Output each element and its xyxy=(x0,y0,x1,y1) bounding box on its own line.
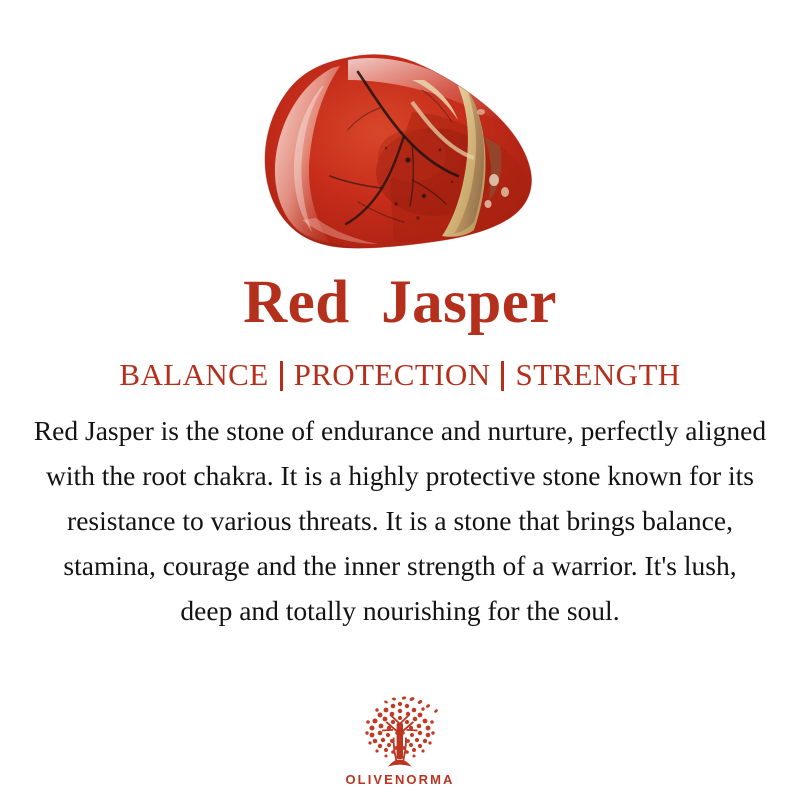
keyword-protection: PROTECTION xyxy=(294,359,491,390)
description-line: resistance to various threats. It is a s… xyxy=(5,498,795,543)
keyword-balance: BALANCE xyxy=(119,359,268,390)
keyword-separator xyxy=(501,361,504,391)
brand-wordmark: OLIVENORMA xyxy=(345,773,454,786)
hero-image-container xyxy=(0,0,800,272)
stone-body xyxy=(262,52,540,264)
description-line: Red Jasper is the stone of endurance and… xyxy=(5,408,795,453)
description-text: Red Jasper is the stone of endurance and… xyxy=(5,408,795,633)
olive-tree-icon xyxy=(352,695,448,771)
keyword-row: BALANCE PROTECTION STRENGTH xyxy=(119,359,680,390)
keyword-separator xyxy=(280,361,283,391)
red-jasper-info-card: Red Jasper BALANCE PROTECTION STRENGTH R… xyxy=(0,0,800,800)
description-line: deep and totally nourishing for the soul… xyxy=(5,588,795,633)
page-title: Red Jasper xyxy=(243,272,557,333)
keyword-strength: STRENGTH xyxy=(515,359,680,390)
red-jasper-stone-image xyxy=(262,52,540,264)
description-line: with the root chakra. It is a highly pro… xyxy=(5,453,795,498)
brand-logo: OLIVENORMA xyxy=(0,695,800,786)
description-line: stamina, courage and the inner strength … xyxy=(5,543,795,588)
